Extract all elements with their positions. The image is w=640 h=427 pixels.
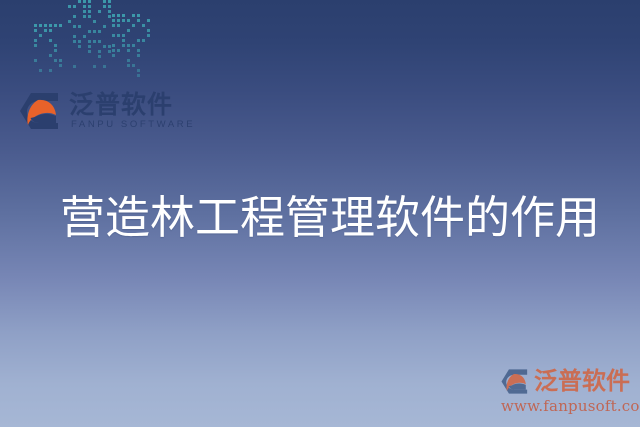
skyline-dot [73,35,76,38]
skyline-dot [39,24,42,27]
skyline-dot [78,0,81,3]
skyline-dot [93,40,96,43]
brand-wordmark: 泛普软件 FANPU SOFTWARE [69,91,195,131]
skyline-dot [49,69,52,72]
skyline-dot [137,39,140,42]
skyline-dot [127,49,130,52]
fanpu-logo-mark-icon [18,91,62,131]
brand-name-cn: 泛普软件 [69,92,195,118]
skyline-dot [122,44,125,47]
skyline-dot [88,10,91,13]
skyline-dot [127,59,130,62]
skyline-dot [83,0,86,3]
skyline-dot [132,44,135,47]
skyline-dot [73,25,76,28]
skyline-dot [117,49,120,52]
skyline-dot [108,45,111,48]
skyline-dot [122,19,125,22]
skyline-dot [112,49,115,52]
skyline-dot [142,39,145,42]
skyline-dot [147,29,150,32]
skyline-dot [59,24,62,27]
skyline-dot [44,29,47,32]
skyline-dot [127,19,130,22]
skyline-dot [103,0,106,3]
skyline-dot [112,44,115,47]
skyline-dot [137,74,140,77]
skyline-dot [108,5,111,8]
skyline-dot [34,59,37,62]
brand-logo: 泛普软件 FANPU SOFTWARE [18,88,195,134]
skyline-dot [54,44,57,47]
skyline-dot [34,29,37,32]
skyline-dot [73,40,76,43]
skyline-dot [83,10,86,13]
skyline-dot [108,50,111,53]
skyline-dot [73,65,76,68]
skyline-dot [88,30,91,33]
watermark-logo-row: 泛普软件 [500,365,634,397]
skyline-dot [117,34,120,37]
skyline-dot [98,55,101,58]
skyline-dot [147,19,150,22]
watermark-url: www.fanpusoft.com [500,397,634,415]
fanpu-watermark-mark-icon [500,368,530,395]
skyline-dot [112,19,115,22]
skyline-dot [112,14,115,17]
skyline-dot [78,45,81,48]
skyline-dot [108,15,111,18]
skyline-dot [68,20,71,23]
skyline-dot [88,5,91,8]
skyline-dot [137,14,140,17]
skyline-dot [49,29,52,32]
skyline-dot [122,34,125,37]
skyline-dot [34,39,37,42]
skyline-dot [137,19,140,22]
skyline-dot [112,54,115,57]
skyline-dot [127,64,130,67]
skyline-dot [98,10,101,13]
skyline-dot [44,24,47,27]
skyline-dot [103,5,106,8]
skyline-dot [93,65,96,68]
skyline-dot [98,30,101,33]
site-watermark: 泛普软件 www.fanpusoft.com [500,365,634,419]
skyline-dot [88,0,91,3]
skyline-dot [88,15,91,18]
skyline-dot [78,40,81,43]
skyline-dot [34,24,37,27]
headline-title: 营造林工程管理软件的作用 [60,190,580,246]
skyline-dot [39,69,42,72]
skyline-dot [112,24,115,27]
skyline-dot [34,44,37,47]
skyline-dot [112,34,115,37]
skyline-dot [98,40,101,43]
skyline-dot [127,44,130,47]
skyline-dot [68,5,71,8]
brand-name-en: FANPU SOFTWARE [69,118,195,131]
skyline-dot [49,39,52,42]
skyline-dot [54,49,57,52]
skyline-dot [103,65,106,68]
skyline-dot [93,30,96,33]
skyline-dot [132,14,135,17]
skyline-dot [117,14,120,17]
skyline-dot [137,54,140,57]
skyline-dot [137,49,140,52]
skyline-dot [49,54,52,57]
skyline-dot [39,34,42,37]
skyline-dot [78,25,81,28]
skyline-dot [108,0,111,3]
skyline-dot [59,64,62,67]
skyline-dot [122,39,125,42]
dot-matrix-skyline-decoration [30,0,150,88]
skyline-dot [88,45,91,48]
skyline-dot [122,14,125,17]
skyline-dot [83,5,86,8]
skyline-dot [73,5,76,8]
skyline-dot [54,59,57,62]
skyline-dot [117,24,120,27]
skyline-dot [142,24,145,27]
promo-banner: 泛普软件 FANPU SOFTWARE 营造林工程管理软件的作用 泛普软件 ww… [0,0,640,427]
skyline-dot [117,19,120,22]
skyline-dot [93,20,96,23]
skyline-dot [88,50,91,53]
skyline-dot [132,24,135,27]
skyline-dot [103,45,106,48]
skyline-dot [108,10,111,13]
skyline-dot [132,64,135,67]
skyline-dot [147,34,150,37]
skyline-dot [49,24,52,27]
skyline-dot [83,35,86,38]
skyline-dot [103,25,106,28]
skyline-dot [98,50,101,53]
skyline-dot [137,69,140,72]
skyline-dot [127,29,130,32]
skyline-dot [54,24,57,27]
skyline-dot [88,40,91,43]
watermark-brand-name: 泛普软件 [534,368,630,394]
skyline-dot [83,15,86,18]
skyline-dot [73,15,76,18]
skyline-dot [59,59,62,62]
